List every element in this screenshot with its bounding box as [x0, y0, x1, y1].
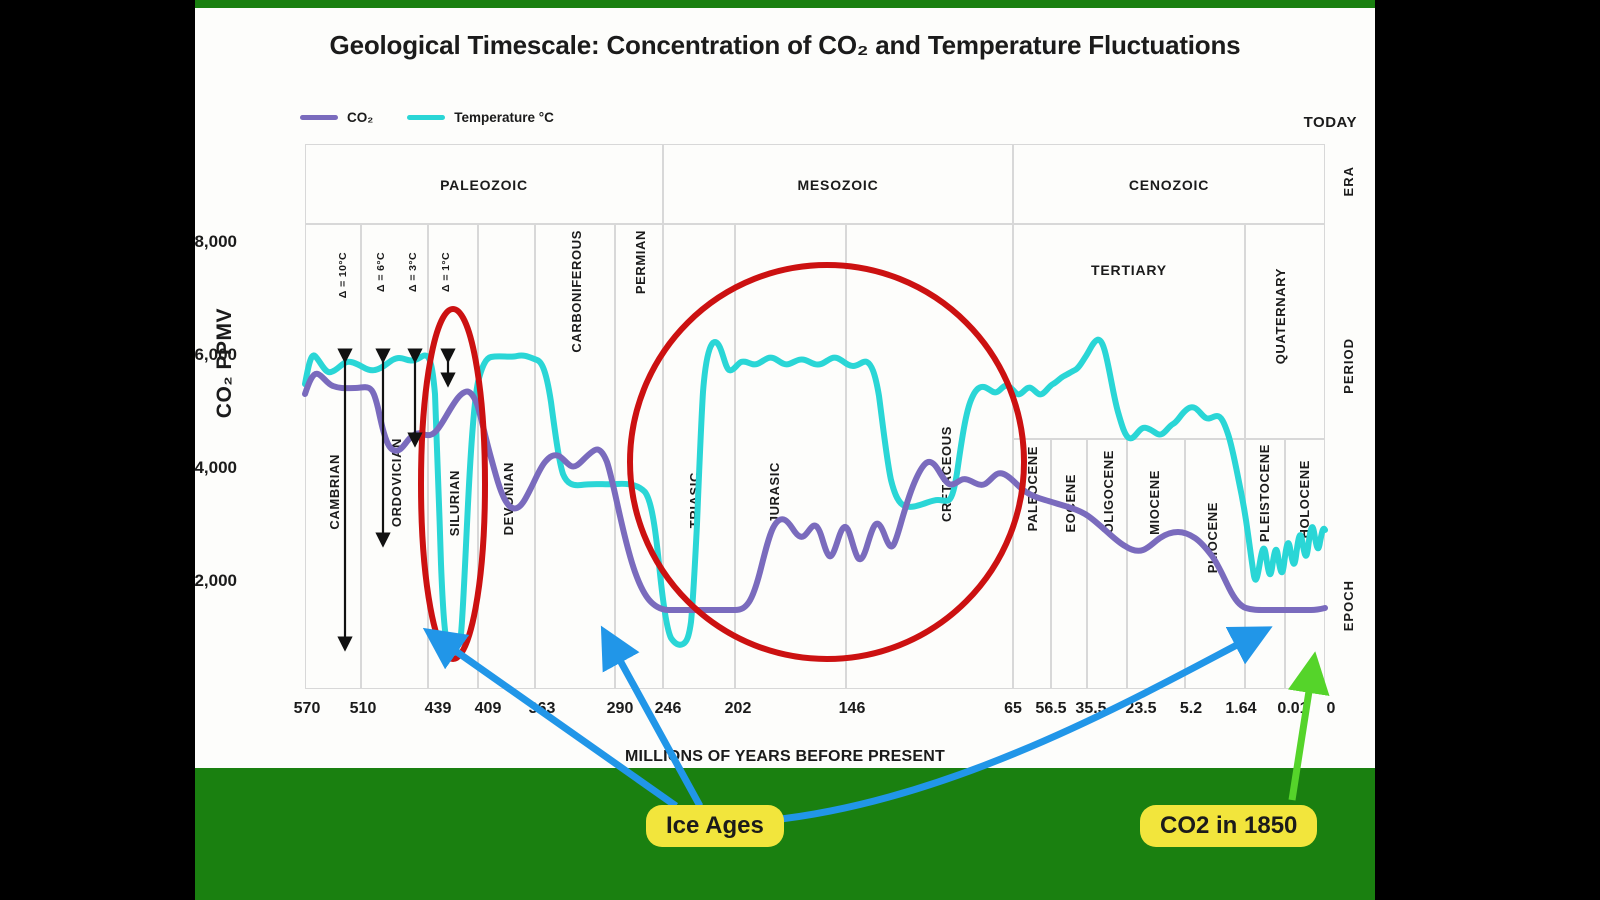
y-tick-2000: 2,000 [194, 571, 237, 591]
x-tick-11: 35.5 [1075, 700, 1106, 718]
page-title: Geological Timescale: Concentration of C… [195, 30, 1375, 61]
x-tick-12: 23.5 [1125, 700, 1156, 718]
delta-label-10c: Δ = 10°C [337, 252, 349, 298]
x-tick-0: 570 [294, 700, 321, 718]
x-tick-13: 5.2 [1180, 700, 1202, 718]
x-axis-title: MILLIONS OF YEARS BEFORE PRESENT [195, 748, 1375, 766]
legend-label-co2: CO₂ [347, 110, 373, 125]
callout-badge-ice-ages[interactable]: Ice Ages [646, 805, 784, 847]
x-tick-9: 65 [1004, 700, 1022, 718]
legend-swatch-temperature [407, 115, 445, 120]
x-tick-8: 146 [839, 700, 866, 718]
right-axis-label-epoch: EPOCH [1341, 580, 1356, 631]
x-tick-14: 1.64 [1225, 700, 1256, 718]
chart-card: Geological Timescale: Concentration of C… [195, 8, 1375, 768]
x-tick-6: 246 [655, 700, 682, 718]
callout-badge-co2-1850[interactable]: CO2 in 1850 [1140, 805, 1317, 847]
chart-legend: CO₂ Temperature °C [300, 110, 554, 125]
x-tick-1: 510 [350, 700, 377, 718]
right-axis-label-period: PERIOD [1341, 338, 1356, 394]
slide-canvas: Geological Timescale: Concentration of C… [0, 0, 1600, 900]
x-tick-5: 290 [607, 700, 634, 718]
x-tick-3: 409 [475, 700, 502, 718]
legend-swatch-co2 [300, 115, 338, 120]
x-tick-15: 0.01 [1277, 700, 1308, 718]
x-tick-4: 363 [529, 700, 556, 718]
y-tick-6000: 6,000 [194, 345, 237, 365]
right-axis-label-era: ERA [1341, 166, 1356, 196]
y-tick-8000: 8,000 [194, 232, 237, 252]
delta-annotations-layer [305, 144, 1325, 689]
delta-label-1c: Δ = 1°C [440, 252, 452, 292]
x-tick-10: 56.5 [1035, 700, 1066, 718]
x-tick-7: 202 [725, 700, 752, 718]
today-label: TODAY [1304, 114, 1357, 131]
y-tick-4000: 4,000 [194, 458, 237, 478]
delta-label-3c: Δ = 3°C [407, 252, 419, 292]
delta-label-6c: Δ = 6°C [375, 252, 387, 292]
x-tick-2: 439 [425, 700, 452, 718]
x-tick-16: 0 [1327, 700, 1336, 718]
plot-area: PALEOZOIC MESOZOIC CENOZOIC CAMBRIAN ORD… [305, 144, 1325, 689]
legend-item-temperature: Temperature °C [407, 110, 554, 125]
legend-label-temperature: Temperature °C [454, 110, 554, 125]
legend-item-co2: CO₂ [300, 110, 373, 125]
